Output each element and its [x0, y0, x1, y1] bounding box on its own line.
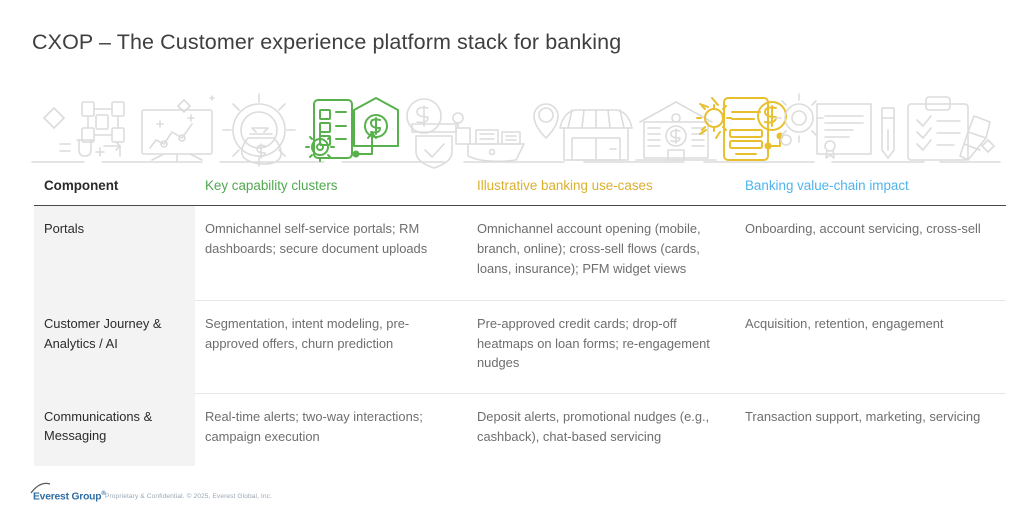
table-row: Communications & Messaging Real-time ale…	[34, 393, 1006, 466]
clipboard-checklist-icon	[908, 97, 968, 160]
column-header-impact: Banking value-chain impact	[735, 176, 1006, 196]
chart-easel-icon	[142, 96, 214, 162]
logo-wordmark: Everest Group®	[33, 491, 106, 502]
document-dollar-amber-icon	[697, 98, 786, 160]
row-divider-mask	[34, 300, 195, 301]
column-header-use-cases: Illustrative banking use-cases	[467, 176, 735, 196]
pencil-icon	[960, 116, 990, 160]
copyright-note: Proprietary & Confidential. © 2025, Ever…	[105, 493, 272, 502]
table-row: Portals Omnichannel self-service portals…	[34, 206, 1006, 300]
column-header-component: Component	[34, 176, 195, 196]
banking-icon-strip	[24, 88, 1008, 170]
capability-table: Component Key capability clusters Illust…	[34, 176, 1006, 466]
cell-use-cases: Deposit alerts, promotional nudges (e.g.…	[467, 394, 735, 466]
cell-component: Communications & Messaging	[34, 394, 195, 466]
cell-use-cases: Omnichannel account opening (mobile, bra…	[467, 206, 735, 300]
location-pin-icon	[534, 104, 558, 138]
gear-outline-icon	[775, 94, 823, 145]
registered-mark: ®	[101, 491, 105, 497]
column-header-capabilities: Key capability clusters	[195, 176, 467, 196]
cell-capabilities: Segmentation, intent modeling, pre-appro…	[195, 301, 467, 393]
storefront-icon	[560, 110, 632, 160]
cell-impact: Onboarding, account servicing, cross-sel…	[735, 206, 1006, 300]
cell-capabilities: Omnichannel self-service portals; RM das…	[195, 206, 467, 300]
org-chart-icon	[82, 102, 124, 142]
slide-canvas: CXOP – The Customer experience platform …	[0, 0, 1024, 516]
cell-capabilities: Real-time alerts; two-way interactions; …	[195, 394, 467, 466]
certificate-icon	[817, 104, 871, 158]
cell-component: Portals	[34, 206, 195, 300]
table-header-row: Component Key capability clusters Illust…	[34, 176, 1006, 206]
everest-group-logo: Everest Group®	[30, 480, 96, 502]
slide-footer: Everest Group® Proprietary & Confidentia…	[30, 480, 272, 502]
table-row: Customer Journey & Analytics / AI Segmen…	[34, 300, 1006, 393]
gear-money-bag-icon	[223, 94, 295, 166]
page-title: CXOP – The Customer experience platform …	[32, 30, 621, 55]
row-divider-mask	[34, 393, 195, 394]
cargo-ship-icon	[453, 113, 524, 161]
cell-impact: Acquisition, retention, engagement	[735, 301, 1006, 393]
cell-impact: Transaction support, marketing, servicin…	[735, 394, 1006, 466]
pen-icon	[882, 108, 894, 158]
diamond-icon	[44, 108, 64, 128]
cell-component: Customer Journey & Analytics / AI	[34, 301, 195, 393]
cell-use-cases: Pre-approved credit cards; drop-off heat…	[467, 301, 735, 393]
